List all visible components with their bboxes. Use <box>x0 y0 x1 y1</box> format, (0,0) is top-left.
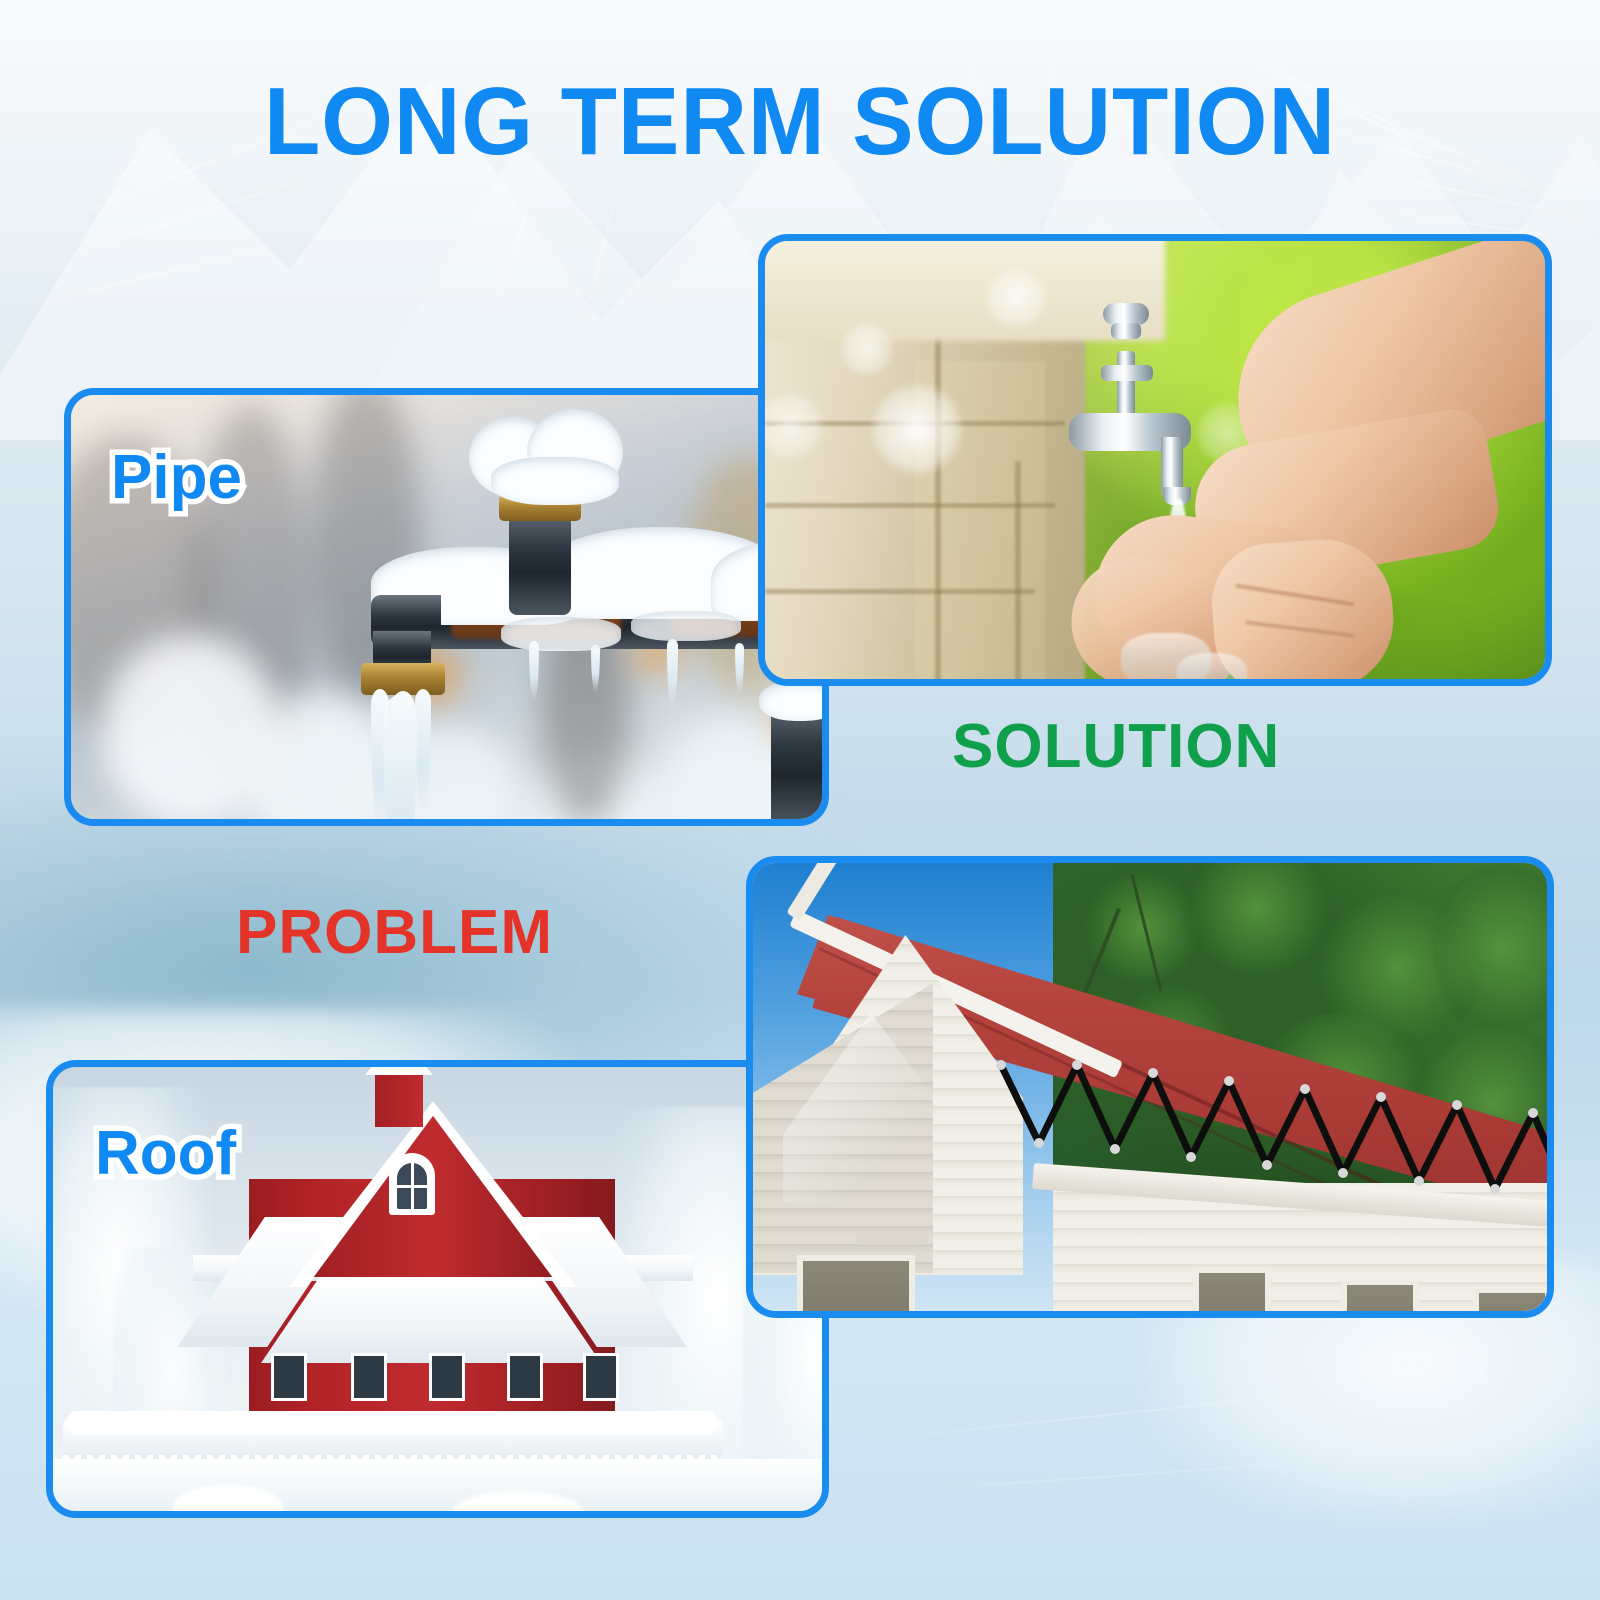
running-tap-photo <box>765 241 1545 679</box>
label-solution: SOLUTION <box>952 716 1280 778</box>
page-title: LONG TERM SOLUTION <box>32 74 1568 170</box>
panel-tag-pipe: Pipe <box>111 447 242 509</box>
panel-tag-roof: Roof <box>95 1123 236 1185</box>
heat-cable-icon <box>993 1039 1554 1259</box>
label-problem: PROBLEM <box>236 902 553 964</box>
panel-barn-problem: Roof <box>46 1060 829 1518</box>
panel-pipe-problem: Pipe <box>64 388 829 826</box>
panel-tap-solution <box>758 234 1552 686</box>
panel-roof-solution <box>746 856 1554 1318</box>
roof-heat-cable-photo <box>753 863 1547 1311</box>
